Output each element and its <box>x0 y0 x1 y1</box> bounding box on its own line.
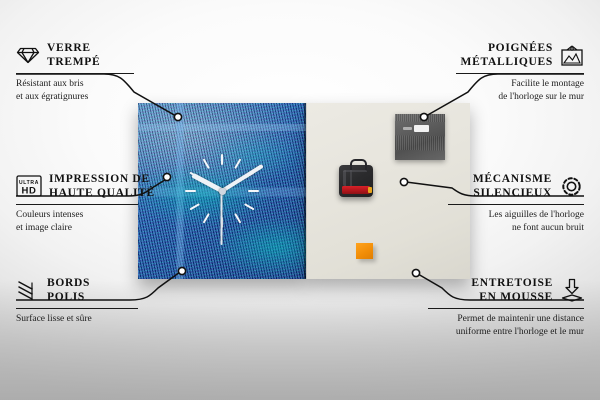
foam-spacer-icon <box>560 278 584 302</box>
desc-line-1: Facilite le montage <box>456 78 584 91</box>
feature-title-verre-trempe: VERRE TREMPÉ <box>16 41 134 69</box>
foam-spacer <box>356 243 373 259</box>
feature-entretoise-en-mousse[interactable]: ENTRETOISE EN MOUSSE Permet de maintenir… <box>428 276 584 339</box>
clock-face-panel <box>138 103 306 279</box>
feature-impression-haute-qualite[interactable]: ultra HD IMPRESSION DE HAUTE QUALITÉ Cou… <box>16 172 138 235</box>
desc-line-2: et image claire <box>16 222 138 235</box>
svg-text:HD: HD <box>21 186 36 197</box>
title-line-2: EN MOUSSE <box>479 290 553 304</box>
desc-line-1: Les aiguilles de l'horloge <box>448 209 584 222</box>
title-line-2: TREMPÉ <box>47 55 100 69</box>
feature-desc-impression: Couleurs intenses et image claire <box>16 209 138 234</box>
divider <box>16 73 134 74</box>
feature-poignees-metalliques[interactable]: POIGNÉES MÉTALLIQUES Facilite le montage… <box>456 41 584 104</box>
divider <box>448 204 584 205</box>
title-line-1: MÉCANISME <box>473 172 552 186</box>
divider <box>456 73 584 74</box>
product-image <box>138 103 470 279</box>
feature-desc-entretoise: Permet de maintenir une distance uniform… <box>428 313 584 338</box>
divider <box>16 204 138 205</box>
title-line-2: MÉTALLIQUES <box>461 55 553 69</box>
feature-mecanisme-silencieux[interactable]: MÉCANISME SILENCIEUX Les aiguilles de l'… <box>448 172 584 235</box>
desc-line-2: de l'horloge sur le mur <box>456 91 584 104</box>
title-line-1: IMPRESSION DE <box>49 172 155 186</box>
infographic-canvas: VERRE TREMPÉ Résistant aux bris et aux é… <box>0 0 600 400</box>
diamond-icon <box>16 46 40 64</box>
mechanism-detail <box>343 170 367 186</box>
clock-center-pin <box>219 188 226 195</box>
clock-mechanism <box>339 165 373 197</box>
feature-desc-mecanisme: Les aiguilles de l'horloge ne font aucun… <box>448 209 584 234</box>
wall-hanger-icon <box>560 45 584 66</box>
title-line-2: SILENCIEUX <box>473 186 552 200</box>
feature-title-impression: ultra HD IMPRESSION DE HAUTE QUALITÉ <box>16 172 138 200</box>
title-line-1: VERRE <box>47 41 100 55</box>
gear-icon <box>559 174 584 199</box>
desc-line-2: uniforme entre l'horloge et le mur <box>428 326 584 339</box>
feature-title-entretoise: ENTRETOISE EN MOUSSE <box>428 276 584 304</box>
title-line-2: HAUTE QUALITÉ <box>49 186 155 200</box>
desc-line-1: Résistant aux bris <box>16 78 134 91</box>
desc-line-1: Couleurs intenses <box>16 209 138 222</box>
battery <box>342 186 370 194</box>
divider <box>16 308 138 309</box>
ultra-hd-icon: ultra HD <box>16 175 42 197</box>
metal-bracket-icon <box>395 114 445 160</box>
feature-bords-polis[interactable]: BORDS POLIS Surface lisse et sûre <box>16 276 138 326</box>
mechanism-hanger-loop <box>350 159 367 170</box>
feature-title-mecanisme: MÉCANISME SILENCIEUX <box>448 172 584 200</box>
divider <box>428 308 584 309</box>
polished-edges-icon <box>16 280 40 300</box>
feature-title-bords-polis: BORDS POLIS <box>16 276 138 304</box>
clock-back-panel <box>306 103 470 279</box>
feature-verre-trempe[interactable]: VERRE TREMPÉ Résistant aux bris et aux é… <box>16 41 134 104</box>
desc-line-1: Permet de maintenir une distance <box>428 313 584 326</box>
title-line-1: ENTRETOISE <box>471 276 553 290</box>
feature-desc-poignees: Facilite le montage de l'horloge sur le … <box>456 78 584 103</box>
desc-line-2: et aux égratignures <box>16 91 134 104</box>
title-line-1: BORDS <box>47 276 90 290</box>
feature-title-poignees: POIGNÉES MÉTALLIQUES <box>456 41 584 69</box>
desc-line-1: Surface lisse et sûre <box>16 313 138 326</box>
feature-desc-bords-polis: Surface lisse et sûre <box>16 313 138 326</box>
feature-desc-verre-trempe: Résistant aux bris et aux égratignures <box>16 78 134 103</box>
desc-line-2: ne font aucun bruit <box>448 222 584 235</box>
title-line-1: POIGNÉES <box>488 41 553 55</box>
title-line-2: POLIS <box>47 290 90 304</box>
